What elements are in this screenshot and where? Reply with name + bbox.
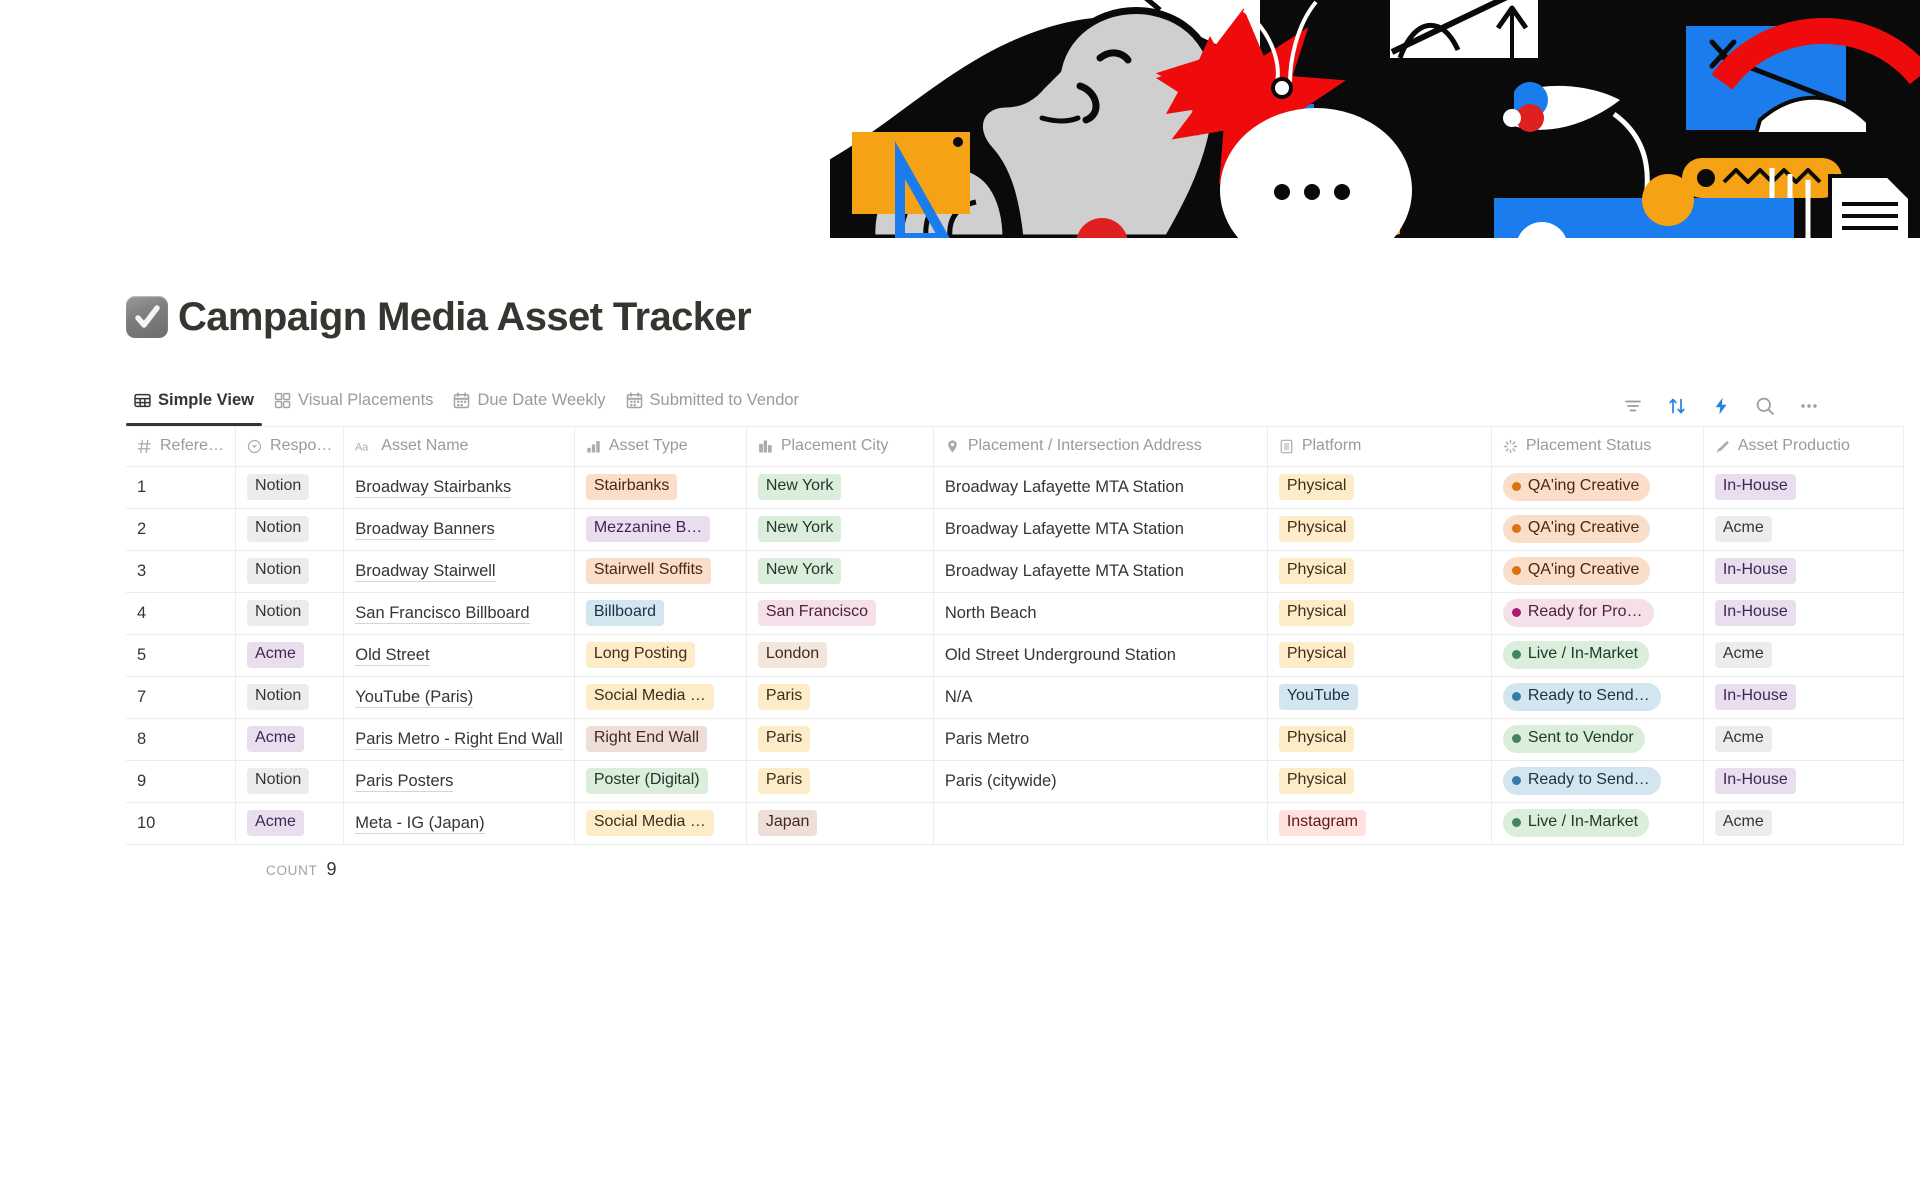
cell-reference[interactable]: 3: [126, 550, 236, 592]
cell-placement-address[interactable]: Broadway Lafayette MTA Station: [933, 466, 1267, 508]
cell-asset-type[interactable]: Right End Wall: [574, 718, 746, 760]
status-label: QA'ing Creative: [1528, 477, 1640, 495]
column-label: Asset Productio: [1738, 437, 1850, 455]
hash-icon: [137, 439, 152, 454]
cell-responsible[interactable]: Acme: [236, 718, 344, 760]
placement-status-tag[interactable]: Live / In-Market: [1503, 641, 1649, 668]
responsible-tag[interactable]: Notion: [247, 558, 309, 583]
status-dot: [1512, 482, 1521, 491]
cell-reference[interactable]: 2: [126, 508, 236, 550]
placement-city-tag[interactable]: Paris: [758, 768, 810, 793]
placement-city-tag[interactable]: San Francisco: [758, 600, 876, 625]
placement-city-tag[interactable]: London: [758, 642, 827, 667]
cell-responsible[interactable]: Notion: [236, 508, 344, 550]
cell-placement-city[interactable]: Japan: [746, 802, 933, 844]
table-row[interactable]: 8AcmeParis Metro - Right End WallRight E…: [126, 718, 1903, 760]
svg-text:Aa: Aa: [355, 441, 368, 453]
cell-asset-production[interactable]: In-House: [1703, 592, 1903, 634]
white-heavy-check-mark-icon[interactable]: [126, 296, 168, 338]
gallery-icon: [274, 392, 291, 409]
view-toolbar: Simple View Visual Placements: [0, 386, 1920, 426]
automation-lightning-icon[interactable]: [1710, 395, 1732, 417]
cell-placement-address[interactable]: [933, 802, 1267, 844]
responsible-tag[interactable]: Notion: [247, 768, 309, 793]
asset-type-tag[interactable]: Mezzanine B…: [586, 516, 711, 541]
asset-type-tag[interactable]: Right End Wall: [586, 726, 707, 751]
asset-production-tag[interactable]: Acme: [1715, 810, 1772, 835]
more-options-icon[interactable]: [1798, 395, 1820, 417]
responsible-tag[interactable]: Notion: [247, 684, 309, 709]
cell-asset-type[interactable]: Social Media …: [574, 676, 746, 718]
asset-type-tag[interactable]: Social Media …: [586, 684, 714, 709]
placement-city-tag[interactable]: New York: [758, 558, 842, 583]
page-header: Campaign Media Asset Tracker: [0, 238, 1920, 366]
cell-asset-name[interactable]: Broadway Stairwell: [344, 550, 575, 592]
cell-placement-status[interactable]: QA'ing Creative: [1491, 508, 1703, 550]
cell-responsible[interactable]: Notion: [236, 760, 344, 802]
tab-due-date-weekly[interactable]: Due Date Weekly: [445, 386, 613, 426]
tab-label: Simple View: [158, 391, 254, 410]
cell-placement-city[interactable]: Paris: [746, 760, 933, 802]
table-row[interactable]: 3NotionBroadway StairwellStairwell Soffi…: [126, 550, 1903, 592]
cell-asset-production[interactable]: In-House: [1703, 466, 1903, 508]
placement-status-tag[interactable]: Sent to Vendor: [1503, 725, 1645, 752]
platform-tag[interactable]: Physical: [1279, 642, 1355, 667]
cell-placement-status[interactable]: Ready for Pro…: [1491, 592, 1703, 634]
cell-platform[interactable]: Instagram: [1267, 802, 1491, 844]
cell-placement-city[interactable]: New York: [746, 508, 933, 550]
column-header-asset-name[interactable]: Aa Asset Name: [344, 426, 575, 466]
cell-platform[interactable]: YouTube: [1267, 676, 1491, 718]
cell-platform[interactable]: Physical: [1267, 550, 1491, 592]
asset-name-link[interactable]: Broadway Stairwell: [355, 562, 495, 582]
cell-asset-type[interactable]: Social Media …: [574, 802, 746, 844]
calendar-icon: [453, 392, 470, 409]
cell-responsible[interactable]: Notion: [236, 466, 344, 508]
cell-asset-name[interactable]: Old Street: [344, 634, 575, 676]
cell-placement-status[interactable]: Sent to Vendor: [1491, 718, 1703, 760]
status-label: QA'ing Creative: [1528, 519, 1640, 537]
responsible-tag[interactable]: Notion: [247, 600, 309, 625]
cell-responsible[interactable]: Notion: [236, 550, 344, 592]
table-row[interactable]: 10AcmeMeta - IG (Japan)Social Media …Jap…: [126, 802, 1903, 844]
cell-placement-city[interactable]: New York: [746, 466, 933, 508]
cell-placement-address[interactable]: Broadway Lafayette MTA Station: [933, 508, 1267, 550]
page-cover-image: [0, 0, 1920, 238]
cell-placement-address[interactable]: Paris (citywide): [933, 760, 1267, 802]
count-label: Count: [266, 863, 318, 878]
cell-placement-city[interactable]: Paris: [746, 718, 933, 760]
column-header-placement-address[interactable]: Placement / Intersection Address: [933, 426, 1267, 466]
column-label: Placement / Intersection Address: [968, 437, 1202, 455]
column-header-asset-type[interactable]: Asset Type: [574, 426, 746, 466]
column-label: Refere…: [160, 437, 224, 455]
platform-tag[interactable]: YouTube: [1279, 684, 1358, 709]
cell-asset-type[interactable]: Poster (Digital): [574, 760, 746, 802]
cell-reference[interactable]: 1: [126, 466, 236, 508]
cell-placement-city[interactable]: London: [746, 634, 933, 676]
status-dot: [1512, 524, 1521, 533]
cell-asset-type[interactable]: Mezzanine B…: [574, 508, 746, 550]
cell-asset-production[interactable]: Acme: [1703, 634, 1903, 676]
table-row[interactable]: 1NotionBroadway StairbanksStairbanksNew …: [126, 466, 1903, 508]
placement-status-tag[interactable]: QA'ing Creative: [1503, 557, 1651, 584]
column-label: Placement City: [781, 437, 889, 455]
cell-asset-name[interactable]: Broadway Stairbanks: [344, 466, 575, 508]
cell-reference[interactable]: 5: [126, 634, 236, 676]
placement-city-tag[interactable]: New York: [758, 474, 842, 499]
column-header-placement-status[interactable]: Placement Status: [1491, 426, 1703, 466]
cell-reference[interactable]: 10: [126, 802, 236, 844]
cell-asset-name[interactable]: Paris Posters: [344, 760, 575, 802]
cell-placement-status[interactable]: Live / In-Market: [1491, 634, 1703, 676]
placement-city-tag[interactable]: New York: [758, 516, 842, 541]
responsible-tag[interactable]: Acme: [247, 810, 304, 835]
cell-placement-address[interactable]: N/A: [933, 676, 1267, 718]
cell-asset-name[interactable]: Broadway Banners: [344, 508, 575, 550]
cell-placement-address[interactable]: North Beach: [933, 592, 1267, 634]
placement-status-tag[interactable]: Ready to Send…: [1503, 767, 1661, 794]
page-title: Campaign Media Asset Tracker: [178, 295, 751, 339]
status-dot: [1512, 608, 1521, 617]
cell-asset-production[interactable]: Acme: [1703, 508, 1903, 550]
cell-asset-production[interactable]: In-House: [1703, 550, 1903, 592]
placement-status-tag[interactable]: Live / In-Market: [1503, 809, 1649, 836]
placement-status-tag[interactable]: Ready for Pro…: [1503, 599, 1654, 626]
asset-production-tag[interactable]: In-House: [1715, 768, 1796, 793]
cell-asset-name[interactable]: Paris Metro - Right End Wall: [344, 718, 575, 760]
platform-tag[interactable]: Physical: [1279, 558, 1355, 583]
platform-tag[interactable]: Physical: [1279, 726, 1355, 751]
count-value: 9: [327, 859, 337, 880]
asset-name-link[interactable]: Paris Metro - Right End Wall: [355, 730, 563, 750]
cell-reference[interactable]: 9: [126, 760, 236, 802]
status-dot: [1512, 818, 1521, 827]
table-footer-count[interactable]: Count 9: [126, 845, 1920, 880]
status-dot: [1512, 776, 1521, 785]
map-pin-icon: [945, 439, 960, 454]
status-label: Ready to Send…: [1528, 687, 1650, 705]
table-row[interactable]: 7NotionYouTube (Paris)Social Media …Pari…: [126, 676, 1903, 718]
placement-city-tag[interactable]: Japan: [758, 810, 818, 835]
cover-illustration: [830, 0, 1920, 238]
cell-placement-address[interactable]: Old Street Underground Station: [933, 634, 1267, 676]
table-header-row: Refere… Respo…: [126, 426, 1903, 466]
cell-placement-status[interactable]: Live / In-Market: [1491, 802, 1703, 844]
responsible-tag[interactable]: Notion: [247, 474, 309, 499]
status-label: QA'ing Creative: [1528, 561, 1640, 579]
column-header-reference[interactable]: Refere…: [126, 426, 236, 466]
asset-production-tag[interactable]: In-House: [1715, 684, 1796, 709]
cell-placement-status[interactable]: Ready to Send…: [1491, 760, 1703, 802]
column-label: Platform: [1302, 437, 1362, 455]
cell-responsible[interactable]: Acme: [236, 802, 344, 844]
cell-responsible[interactable]: Notion: [236, 676, 344, 718]
status-label: Sent to Vendor: [1528, 729, 1634, 747]
responsible-tag[interactable]: Acme: [247, 642, 304, 667]
status-label: Live / In-Market: [1528, 645, 1638, 663]
column-label: Asset Name: [381, 437, 468, 455]
database-table-container: Refere… Respo…: [0, 426, 1920, 880]
status-dot: [1512, 650, 1521, 659]
status-label: Ready for Pro…: [1528, 603, 1643, 621]
cell-platform[interactable]: Physical: [1267, 592, 1491, 634]
table-grid-icon: [134, 392, 151, 409]
cell-platform[interactable]: Physical: [1267, 466, 1491, 508]
column-header-placement-city[interactable]: Placement City: [746, 426, 933, 466]
cell-placement-city[interactable]: New York: [746, 550, 933, 592]
cell-placement-city[interactable]: Paris: [746, 676, 933, 718]
asset-production-tag[interactable]: Acme: [1715, 726, 1772, 751]
tab-label: Visual Placements: [298, 391, 433, 410]
asset-type-tag[interactable]: Billboard: [586, 600, 664, 625]
loading-spinner-icon: [1503, 439, 1518, 454]
tab-submitted-to-vendor[interactable]: Submitted to Vendor: [618, 386, 808, 426]
cell-reference[interactable]: 4: [126, 592, 236, 634]
platform-tag[interactable]: Physical: [1279, 600, 1355, 625]
asset-type-tag[interactable]: Stairwell Soffits: [586, 558, 711, 583]
building-icon: [758, 439, 773, 454]
cell-placement-status[interactable]: Ready to Send…: [1491, 676, 1703, 718]
placement-city-tag[interactable]: Paris: [758, 726, 810, 751]
table-row[interactable]: 2NotionBroadway BannersMezzanine B…New Y…: [126, 508, 1903, 550]
column-header-asset-production[interactable]: Asset Productio: [1703, 426, 1903, 466]
tab-visual-placements[interactable]: Visual Placements: [266, 386, 441, 426]
asset-type-tag[interactable]: Long Posting: [586, 642, 695, 667]
platform-tag[interactable]: Physical: [1279, 474, 1355, 499]
table-row[interactable]: 4NotionSan Francisco BillboardBillboardS…: [126, 592, 1903, 634]
cell-reference[interactable]: 7: [126, 676, 236, 718]
column-label: Placement Status: [1526, 437, 1651, 455]
asset-type-tag[interactable]: Poster (Digital): [586, 768, 708, 793]
cell-asset-type[interactable]: Long Posting: [574, 634, 746, 676]
tab-label: Due Date Weekly: [477, 391, 605, 410]
asset-name-link[interactable]: San Francisco Billboard: [355, 604, 529, 624]
cell-asset-production[interactable]: Acme: [1703, 718, 1903, 760]
column-header-responsible[interactable]: Respo…: [236, 426, 344, 466]
cell-placement-address[interactable]: Paris Metro: [933, 718, 1267, 760]
cell-platform[interactable]: Physical: [1267, 718, 1491, 760]
status-dot: [1512, 566, 1521, 575]
asset-name-link[interactable]: Old Street: [355, 646, 429, 666]
table-body: 1NotionBroadway StairbanksStairbanksNew …: [126, 466, 1903, 844]
cell-placement-address[interactable]: Broadway Lafayette MTA Station: [933, 550, 1267, 592]
tab-label: Submitted to Vendor: [650, 391, 800, 410]
column-label: Asset Type: [609, 437, 688, 455]
asset-production-tag[interactable]: Acme: [1715, 642, 1772, 667]
cell-asset-production[interactable]: Acme: [1703, 802, 1903, 844]
table-row[interactable]: 5AcmeOld StreetLong PostingLondonOld Str…: [126, 634, 1903, 676]
column-label: Respo…: [270, 437, 332, 455]
asset-name-link[interactable]: Paris Posters: [355, 772, 453, 792]
asset-name-link[interactable]: YouTube (Paris): [355, 688, 473, 708]
sort-icon[interactable]: [1666, 395, 1688, 417]
filter-icon[interactable]: [1622, 395, 1644, 417]
placement-status-tag[interactable]: Ready to Send…: [1503, 683, 1661, 710]
tab-simple-view[interactable]: Simple View: [126, 386, 262, 426]
cell-responsible[interactable]: Notion: [236, 592, 344, 634]
cell-asset-name[interactable]: YouTube (Paris): [344, 676, 575, 718]
cell-responsible[interactable]: Acme: [236, 634, 344, 676]
platform-tag[interactable]: Physical: [1279, 516, 1355, 541]
cell-platform[interactable]: Physical: [1267, 760, 1491, 802]
responsible-tag[interactable]: Acme: [247, 726, 304, 751]
cell-asset-type[interactable]: Stairwell Soffits: [574, 550, 746, 592]
cell-asset-type[interactable]: Stairbanks: [574, 466, 746, 508]
title-aa-icon: Aa: [355, 439, 373, 454]
placement-city-tag[interactable]: Paris: [758, 684, 810, 709]
cell-asset-name[interactable]: Meta - IG (Japan): [344, 802, 575, 844]
status-dot: [1512, 734, 1521, 743]
cell-platform[interactable]: Physical: [1267, 634, 1491, 676]
paintbrush-icon: [1715, 439, 1730, 454]
calendar-icon: [626, 392, 643, 409]
responsible-tag[interactable]: Notion: [247, 516, 309, 541]
asset-type-tag[interactable]: Stairbanks: [586, 474, 678, 499]
status-label: Live / In-Market: [1528, 813, 1638, 831]
database-table: Refere… Respo…: [126, 426, 1904, 845]
asset-production-tag[interactable]: Acme: [1715, 516, 1772, 541]
cell-asset-type[interactable]: Billboard: [574, 592, 746, 634]
table-row[interactable]: 9NotionParis PostersPoster (Digital)Pari…: [126, 760, 1903, 802]
multiselect-icon: [586, 439, 601, 454]
cell-asset-production[interactable]: In-House: [1703, 676, 1903, 718]
cell-placement-city[interactable]: San Francisco: [746, 592, 933, 634]
asset-name-link[interactable]: Broadway Stairbanks: [355, 478, 511, 498]
platform-tag[interactable]: Physical: [1279, 768, 1355, 793]
cell-platform[interactable]: Physical: [1267, 508, 1491, 550]
cell-asset-name[interactable]: San Francisco Billboard: [344, 592, 575, 634]
placement-status-tag[interactable]: QA'ing Creative: [1503, 473, 1651, 500]
cell-reference[interactable]: 8: [126, 718, 236, 760]
search-icon[interactable]: [1754, 395, 1776, 417]
placement-status-tag[interactable]: QA'ing Creative: [1503, 515, 1651, 542]
select-circle-icon: [247, 439, 262, 454]
id-card-icon: [1279, 439, 1294, 454]
cell-placement-status[interactable]: QA'ing Creative: [1491, 466, 1703, 508]
cell-asset-production[interactable]: In-House: [1703, 760, 1903, 802]
status-dot: [1512, 692, 1521, 701]
cell-placement-status[interactable]: QA'ing Creative: [1491, 550, 1703, 592]
column-header-platform[interactable]: Platform: [1267, 426, 1491, 466]
asset-production-tag[interactable]: In-House: [1715, 558, 1796, 583]
asset-name-link[interactable]: Meta - IG (Japan): [355, 814, 484, 834]
asset-name-link[interactable]: Broadway Banners: [355, 520, 494, 540]
status-label: Ready to Send…: [1528, 771, 1650, 789]
asset-production-tag[interactable]: In-House: [1715, 474, 1796, 499]
asset-production-tag[interactable]: In-House: [1715, 600, 1796, 625]
asset-type-tag[interactable]: Social Media …: [586, 810, 714, 835]
view-tabs: Simple View Visual Placements: [126, 386, 807, 426]
platform-tag[interactable]: Instagram: [1279, 810, 1366, 835]
view-action-buttons: [1622, 395, 1820, 426]
